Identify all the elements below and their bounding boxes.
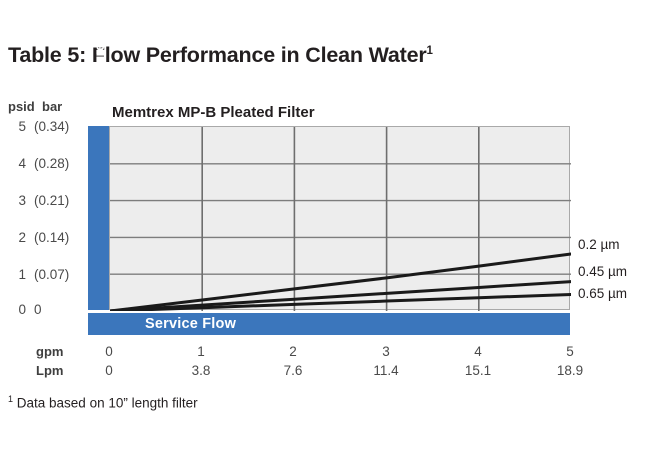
y-tick-psid-value: 3 [0, 194, 26, 208]
y-tick-bar-value: (0.21) [34, 194, 80, 208]
series-label-0: 0.2 µm [578, 237, 620, 252]
y-tick-bar-value: (0.07) [34, 268, 80, 282]
y-axis-unit-psid: psid [8, 99, 35, 114]
y-tick-bar-value: (0.14) [34, 231, 80, 245]
x-tick-lpm-4: 15.1 [448, 363, 508, 378]
footnote-text: Data based on 10” length filter [13, 396, 198, 411]
page-title-footnote-marker: 1 [427, 45, 433, 57]
chart-svg [110, 127, 571, 311]
y-tick-psid-value: 2 [0, 231, 26, 245]
x-tick-lpm-2: 7.6 [263, 363, 323, 378]
x-tick-lpm-3: 11.4 [356, 363, 416, 378]
chart-plot-area [109, 126, 570, 310]
x-tick-lpm-0: 0 [79, 363, 139, 378]
series-label-2: 0.65 µm [578, 286, 627, 301]
x-tick-lpm-5: 18.9 [540, 363, 600, 378]
y-tick-psid-value: 5 [0, 120, 26, 134]
pressure-drop-band [88, 126, 109, 310]
x-tick-gpm-2: 2 [263, 344, 323, 359]
y-tick-bar-value: (0.28) [34, 157, 80, 171]
data-series-group [110, 254, 571, 311]
series-label-1: 0.45 µm [578, 264, 627, 279]
x-tick-gpm-0: 0 [79, 344, 139, 359]
y-tick-psid-value: 1 [0, 268, 26, 282]
x-tick-gpm-5: 5 [540, 344, 600, 359]
x-axis-unit-gpm: gpm [36, 344, 63, 359]
footnote: 1 Data based on 10” length filter [8, 394, 198, 411]
y-tick-bar-value: 0 [34, 303, 80, 317]
page-title-text: Table 5: Flow Performance in Clean Water [8, 43, 427, 67]
y-tick-bar-value: (0.34) [34, 120, 80, 134]
x-tick-lpm-1: 3.8 [171, 363, 231, 378]
x-tick-gpm-4: 4 [448, 344, 508, 359]
pressure-drop-band-label: Pressure Drop [88, 0, 109, 147]
page-title: Table 5: Flow Performance in Clean Water… [8, 43, 433, 68]
y-axis-unit-bar: bar [42, 99, 62, 114]
service-flow-band-label: Service Flow [145, 316, 236, 332]
chart-title: Memtrex MP-B Pleated Filter [112, 104, 315, 121]
x-tick-gpm-1: 1 [171, 344, 231, 359]
x-axis-unit-lpm: Lpm [36, 363, 63, 378]
y-tick-psid-value: 0 [0, 303, 26, 317]
x-tick-gpm-3: 3 [356, 344, 416, 359]
horizontal-gridlines [110, 164, 571, 274]
y-tick-psid-value: 4 [0, 157, 26, 171]
